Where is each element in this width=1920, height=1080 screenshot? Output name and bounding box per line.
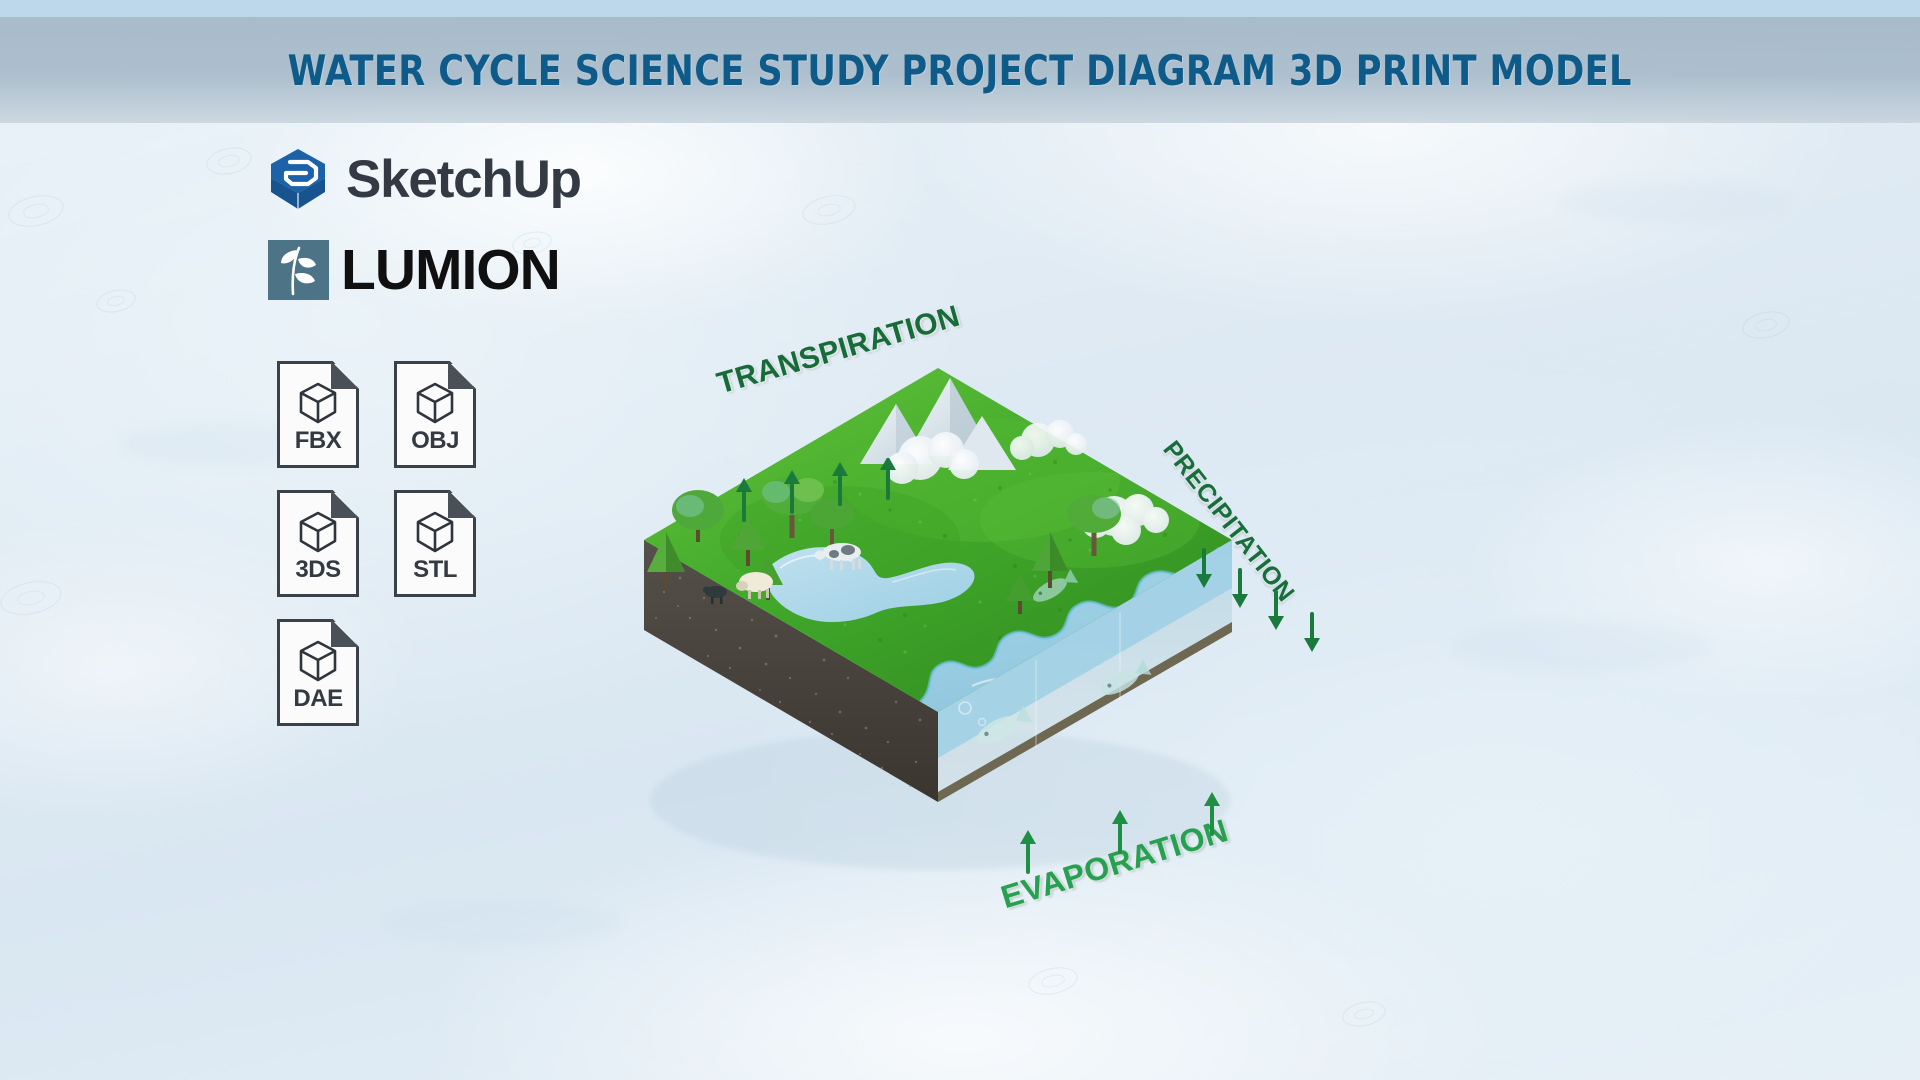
ripple-icon bbox=[94, 286, 138, 316]
sketchup-icon bbox=[268, 148, 328, 210]
cube-icon bbox=[414, 510, 456, 554]
sketchup-logo: SketchUp bbox=[268, 148, 581, 210]
cube-icon bbox=[297, 639, 339, 683]
ripple-icon bbox=[1340, 998, 1388, 1031]
arrow-up-icon bbox=[832, 462, 848, 504]
cube-icon bbox=[297, 510, 339, 554]
file-format-label: DAE bbox=[277, 685, 359, 713]
top-accent-strip bbox=[0, 0, 1920, 17]
ripple-icon bbox=[204, 144, 254, 179]
file-format-label: 3DS bbox=[277, 556, 359, 584]
arrow-down-icon bbox=[1304, 614, 1320, 652]
file-format-label: FBX bbox=[277, 427, 359, 455]
sketchup-wordmark: SketchUp bbox=[346, 153, 581, 206]
arrow-down-icon bbox=[1196, 550, 1212, 588]
lumion-leaf-icon bbox=[268, 240, 329, 300]
ripple-icon bbox=[0, 576, 65, 620]
header-banner: WATER CYCLE SCIENCE STUDY PROJECT DIAGRA… bbox=[0, 17, 1920, 123]
ripple-icon bbox=[1740, 307, 1792, 342]
file-format-list: FBX OBJ 3DS STL DAE bbox=[277, 361, 511, 726]
water-wisp bbox=[1450, 620, 1710, 672]
lumion-logo: LUMION bbox=[268, 240, 560, 300]
ripple-icon bbox=[5, 191, 66, 232]
file-icon-stl[interactable]: STL bbox=[394, 490, 476, 597]
arrow-up-icon bbox=[880, 458, 896, 498]
arrow-up-icon bbox=[1020, 830, 1036, 872]
file-format-label: STL bbox=[394, 556, 476, 584]
ripple-icon bbox=[800, 191, 859, 230]
precipitation-arrows bbox=[1192, 548, 1342, 678]
cube-icon bbox=[414, 381, 456, 425]
water-wisp bbox=[380, 900, 620, 946]
ripple-icon bbox=[1026, 963, 1080, 999]
arrow-up-icon bbox=[1204, 792, 1220, 834]
file-icon-obj[interactable]: OBJ bbox=[394, 361, 476, 468]
page-title: WATER CYCLE SCIENCE STUDY PROJECT DIAGRA… bbox=[288, 46, 1632, 95]
file-format-label: OBJ bbox=[394, 427, 476, 455]
arrow-up-icon bbox=[1112, 810, 1128, 852]
arrow-down-icon bbox=[1268, 592, 1284, 630]
file-icon-fbx[interactable]: FBX bbox=[277, 361, 359, 468]
cube-icon bbox=[297, 381, 339, 425]
evaporation-arrows bbox=[1012, 790, 1252, 880]
arrow-down-icon bbox=[1232, 570, 1248, 608]
arrow-up-icon bbox=[736, 478, 752, 520]
water-wisp bbox=[1560, 180, 1790, 224]
arrow-up-icon bbox=[784, 470, 800, 512]
lumion-icon bbox=[268, 240, 329, 300]
lumion-wordmark: LUMION bbox=[341, 242, 560, 299]
file-icon-dae[interactable]: DAE bbox=[277, 619, 359, 726]
file-icon-3ds[interactable]: 3DS bbox=[277, 490, 359, 597]
transpiration-arrows bbox=[730, 458, 950, 528]
